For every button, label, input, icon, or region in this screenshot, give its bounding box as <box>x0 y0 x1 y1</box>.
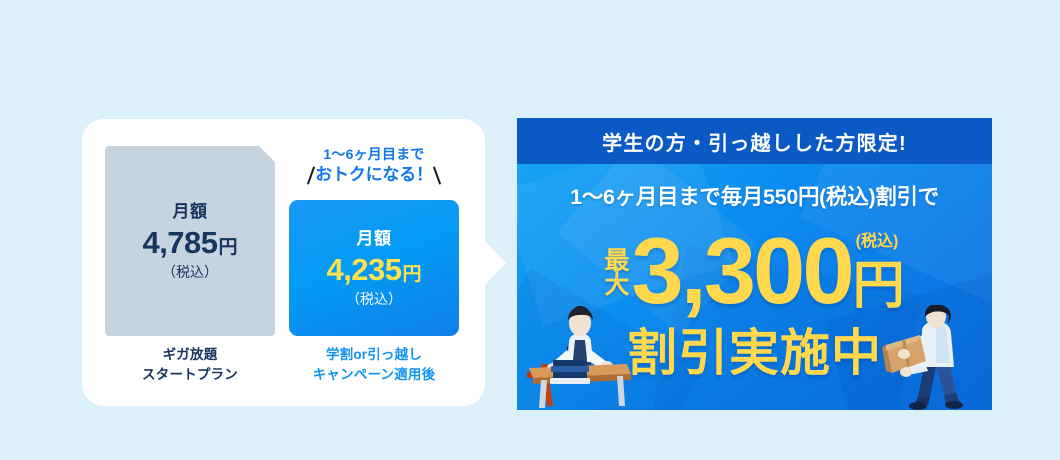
max-label-char2: 大 <box>604 274 629 298</box>
person-carrying-box-icon <box>874 305 984 410</box>
campaign-banner[interactable]: 学生の方・引っ越しした方限定! 1〜6ヶ月目まで毎月550円(税込)割引で 最 … <box>517 118 992 410</box>
banner-header-text: 学生の方・引っ越しした方限定! <box>602 127 907 156</box>
monthly-label-discounted: 月額 <box>357 230 392 247</box>
discounted-price-tax-note: （税込） <box>346 292 402 306</box>
promo-banner-screenshot: 月額 4,785 円 （税込） ギガ放題 スタートプラン 月額 4 <box>0 0 1060 460</box>
discounted-price-row: 4,235 円 <box>326 254 421 285</box>
regular-plan-caption-line2: スタートプラン <box>105 365 275 385</box>
max-label: 最 大 <box>604 250 629 298</box>
banner-header-bar: 学生の方・引っ越しした方限定! <box>517 118 992 164</box>
discounted-price-bar: 月額 4,235 円 （税込） <box>289 200 459 336</box>
regular-price-amount: 4,785 <box>142 227 217 258</box>
slash-right-icon <box>433 166 441 185</box>
savings-callout-line1: 1〜6ヶ月目まで <box>278 145 470 163</box>
monthly-label-regular: 月額 <box>173 203 208 220</box>
savings-callout: 1〜6ヶ月目まで おトクになる！ <box>278 145 470 186</box>
regular-price-bar: 月額 4,785 円 （税込） <box>105 146 275 336</box>
banner-subheadline: 1〜6ヶ月目まで毎月550円(税込)割引で <box>517 180 992 211</box>
discounted-plan-caption-line2: キャンペーン適用後 <box>289 365 459 385</box>
savings-callout-line2: おトクになる！ <box>315 164 433 186</box>
discount-amount-value: 3,300 <box>631 232 851 309</box>
arrow-right-icon <box>484 240 506 286</box>
currency-group: (税込) 円 <box>853 230 905 312</box>
discounted-plan-caption-line1: 学割or引っ越し <box>289 345 459 365</box>
regular-price-currency: 円 <box>219 238 238 257</box>
plan-comparison-card: 月額 4,785 円 （税込） ギガ放題 スタートプラン 月額 4 <box>82 119 485 406</box>
discount-amount-line: 最 大 3,300 (税込) 円 <box>517 230 992 312</box>
banner-tax-note: (税込) <box>856 227 899 251</box>
regular-price-tax-note: （税込） <box>162 265 218 279</box>
discounted-plan-caption: 学割or引っ越し キャンペーン適用後 <box>289 345 459 384</box>
discounted-price-currency: 円 <box>403 265 422 284</box>
discounted-price-amount: 4,235 <box>326 254 401 285</box>
regular-price-row: 4,785 円 <box>142 227 237 258</box>
student-at-desk-icon <box>523 302 643 410</box>
slash-left-icon <box>307 166 315 185</box>
price-bars-group: 月額 4,785 円 （税込） ギガ放題 スタートプラン 月額 4 <box>82 119 485 406</box>
regular-plan-caption-line1: ギガ放題 <box>105 345 275 365</box>
regular-plan-caption: ギガ放題 スタートプラン <box>105 345 275 384</box>
